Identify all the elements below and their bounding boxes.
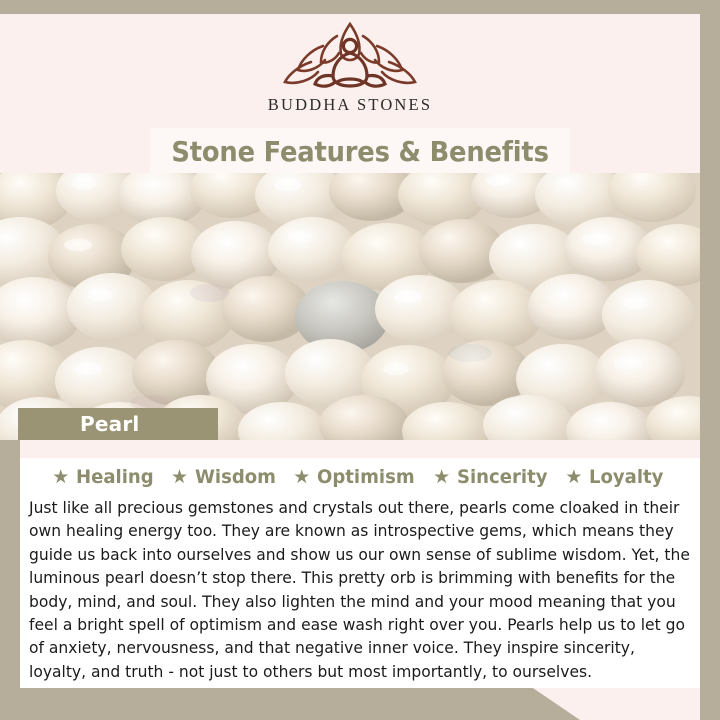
benefit-item: ★ Wisdom (171, 466, 280, 488)
benefit-label: Wisdom (195, 466, 276, 488)
star-icon: ★ (293, 468, 310, 487)
frame-left-band (0, 430, 20, 720)
star-icon: ★ (52, 468, 69, 487)
benefit-item: ★ Sincerity (433, 466, 552, 488)
stone-photo (0, 173, 700, 440)
benefit-item: ★ Healing (52, 466, 158, 488)
page-title: Stone Features & Benefits (171, 135, 548, 168)
star-icon: ★ (171, 468, 188, 487)
benefit-label: Healing (76, 466, 154, 488)
benefit-item: ★ Optimism (293, 466, 420, 488)
benefit-label: Loyalty (589, 466, 663, 488)
star-icon: ★ (433, 468, 450, 487)
brand-logo: BUDDHA STONES (0, 16, 700, 126)
content-card: ★ Healing ★ Wisdom ★ Optimism ★ Sincerit… (20, 458, 700, 688)
stone-name-bar: Pearl (18, 408, 218, 440)
benefit-label: Optimism (317, 466, 415, 488)
benefits-row: ★ Healing ★ Wisdom ★ Optimism ★ Sincerit… (20, 458, 700, 492)
benefit-item: ★ Loyalty (565, 466, 667, 488)
benefit-label: Sincerity (457, 466, 547, 488)
pearl-photo-illustration (0, 173, 700, 440)
brand-name: BUDDHA STONES (268, 95, 432, 115)
frame-bottom-band (0, 686, 580, 720)
poster-root: BUDDHA STONES Stone Features & Benefits (0, 0, 720, 720)
stone-name: Pearl (80, 412, 139, 436)
lotus-meditation-figure-icon (275, 16, 425, 94)
title-banner: Stone Features & Benefits (150, 128, 570, 174)
star-icon: ★ (565, 468, 582, 487)
stone-description: Just like all precious gemstones and cry… (29, 496, 695, 683)
